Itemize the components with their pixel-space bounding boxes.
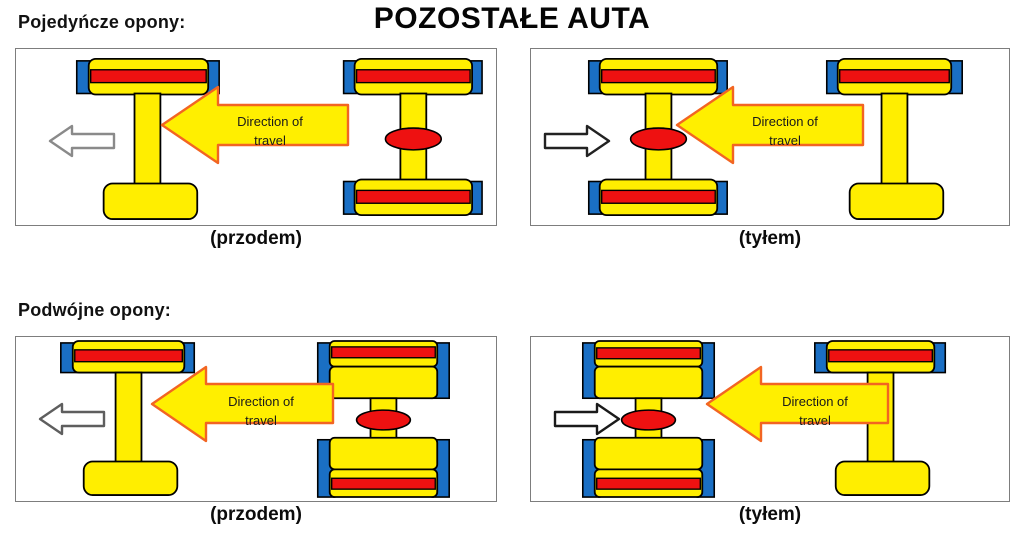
caption-double-rear: (tyłem) xyxy=(530,504,1010,526)
heading-arrow-left-icon xyxy=(36,398,108,440)
tire-inner xyxy=(330,438,438,470)
caption-single-front: (przodem) xyxy=(15,228,497,250)
caption-double-front: (przodem) xyxy=(15,504,497,526)
differential-marker xyxy=(357,410,411,430)
heading-arrow-right-icon xyxy=(551,398,623,440)
tire-inner xyxy=(330,367,438,399)
direction-of-travel-arrow xyxy=(705,365,890,443)
axle-assembly-right xyxy=(344,59,482,215)
tire-inner xyxy=(595,438,703,470)
differential-marker xyxy=(385,128,441,150)
tire-inner xyxy=(595,367,703,399)
caption-single-rear: (tyłem) xyxy=(530,228,1010,250)
direction-of-travel-arrow xyxy=(675,85,865,165)
direction-of-travel-arrow xyxy=(160,85,350,165)
heading-arrow-left-icon xyxy=(46,120,118,162)
section-label-double-tires: Podwójne opony: xyxy=(18,300,171,321)
axle-assembly-right xyxy=(318,341,449,497)
diagram-canvas: Pojedyńcze opony: POZOSTAŁE AUTA Podwójn… xyxy=(0,0,1024,555)
page-title: POZOSTAŁE AUTA xyxy=(0,2,1024,36)
direction-of-travel-arrow xyxy=(150,365,335,443)
heading-arrow-right-icon xyxy=(541,120,613,162)
differential-marker xyxy=(622,410,676,430)
